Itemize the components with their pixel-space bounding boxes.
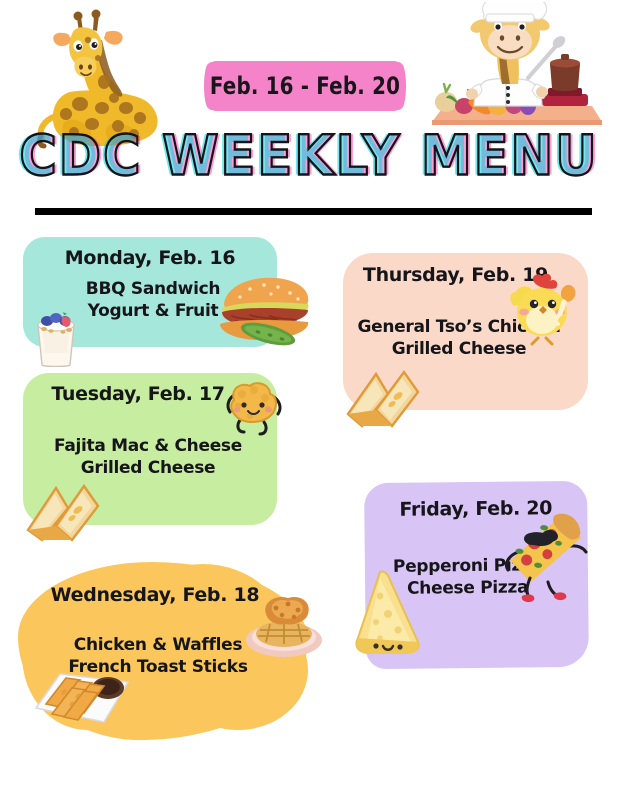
day-title-wednesday: Wednesday, Feb. 18 — [30, 584, 280, 606]
weekly-menu-poster: Feb. 16 - Feb. 20 CDC WEEKLY MENU Monday… — [0, 0, 618, 800]
day-items-tuesday: Fajita Mac & Cheese Grilled Cheese — [33, 435, 263, 479]
day-card-friday: Friday, Feb. 20 Pepperoni Pizza Cheese P… — [364, 481, 589, 669]
giraffe-chef-icon — [432, 2, 602, 142]
giraffe-sitting-icon — [36, 4, 172, 156]
day-card-tuesday: Tuesday, Feb. 17 Fajita Mac & Cheese Gri… — [23, 373, 277, 525]
header-divider — [35, 208, 592, 215]
day-card-monday: Monday, Feb. 16 BBQ Sandwich Yogurt & Fr… — [23, 237, 277, 347]
poster-header: Feb. 16 - Feb. 20 CDC WEEKLY MENU — [0, 0, 618, 215]
day-title-monday: Monday, Feb. 16 — [23, 247, 277, 269]
day-title-tuesday: Tuesday, Feb. 17 — [23, 383, 253, 405]
day-items-monday: BBQ Sandwich Yogurt & Fruit — [53, 278, 253, 322]
day-items-thursday: General Tso’s Chicken Grilled Cheese — [343, 316, 575, 360]
day-card-thursday: Thursday, Feb. 19 General Tso’s Chicken … — [343, 253, 588, 410]
day-items-friday: Pepperoni Pizza Cheese Pizza — [365, 554, 570, 600]
day-title-friday: Friday, Feb. 20 — [364, 497, 587, 521]
date-range-banner: Feb. 16 - Feb. 20 — [209, 61, 401, 111]
day-title-thursday: Thursday, Feb. 19 — [343, 264, 568, 286]
date-range-text: Feb. 16 - Feb. 20 — [217, 61, 394, 111]
day-items-wednesday: Chicken & Waffles French Toast Sticks — [38, 634, 278, 678]
day-card-wednesday: Wednesday, Feb. 18 Chicken & Waffles Fre… — [18, 562, 308, 740]
